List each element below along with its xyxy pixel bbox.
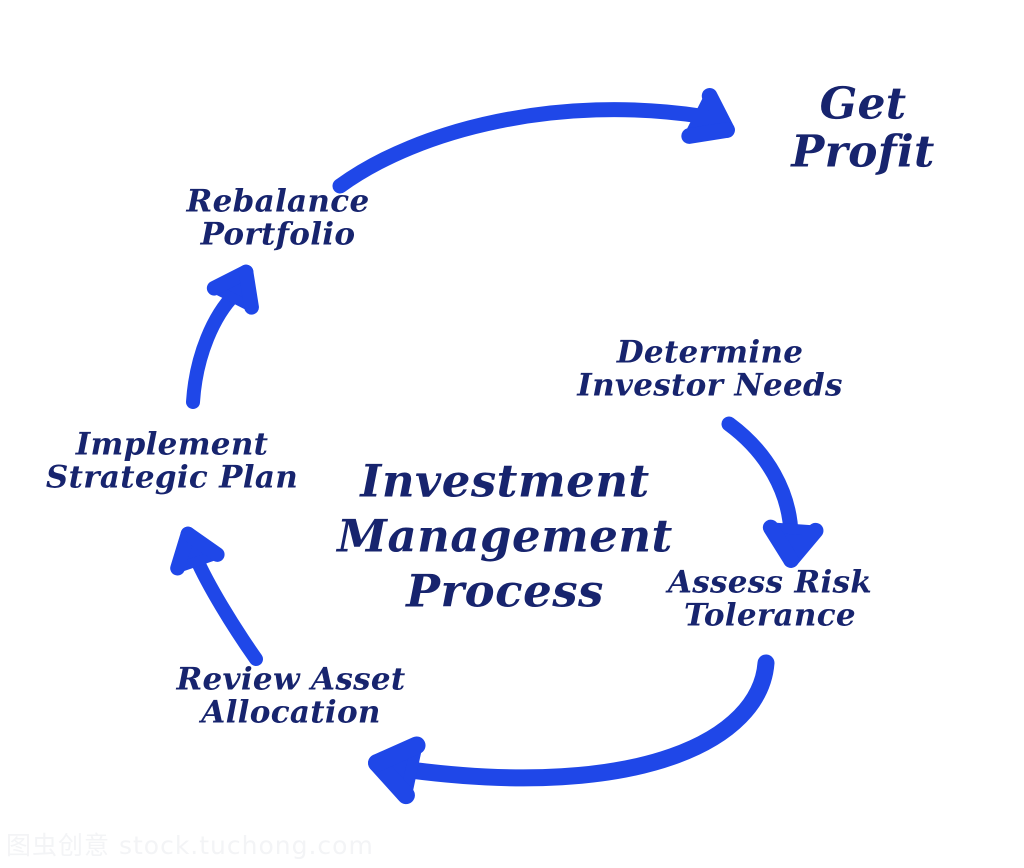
diagram-canvas: Determine Investor NeedsAssess Risk Tole… — [0, 0, 1024, 868]
node-label-rebalance-portfolio: Rebalance Portfolio — [187, 186, 370, 253]
arrow-implement-to-rebalance-head-barb-2 — [246, 272, 252, 307]
arrow-rebalance-to-get-profit-shaft — [340, 110, 700, 186]
node-label-determine-investor-needs: Determine Investor Needs — [577, 337, 842, 404]
node-label-implement-strategic-plan: Implement Strategic Plan — [46, 429, 298, 496]
arrow-determine-to-assess — [729, 424, 816, 560]
arrow-rebalance-to-get-profit-head-barb-2 — [689, 130, 727, 136]
node-label-get-profit: Get Profit — [783, 80, 944, 175]
node-label-assess-risk-tolerance: Assess Risk Tolerance — [668, 567, 872, 634]
node-label-review-asset-allocation: Review Asset Allocation — [176, 664, 405, 731]
arrow-implement-to-rebalance-shaft — [193, 294, 235, 402]
arrow-assess-to-review-shaft — [410, 663, 766, 778]
arrow-assess-to-review — [377, 663, 766, 795]
watermark: 图虫创意 stock.tuchong.com — [6, 826, 374, 862]
arrow-determine-to-assess-shaft — [729, 424, 791, 535]
arrow-rebalance-to-get-profit — [340, 96, 727, 186]
arrow-review-to-implement-shaft — [196, 558, 256, 659]
arrow-review-to-implement — [178, 534, 256, 659]
center-title: Investment Management Process — [337, 455, 673, 620]
arrow-implement-to-rebalance — [193, 272, 252, 402]
